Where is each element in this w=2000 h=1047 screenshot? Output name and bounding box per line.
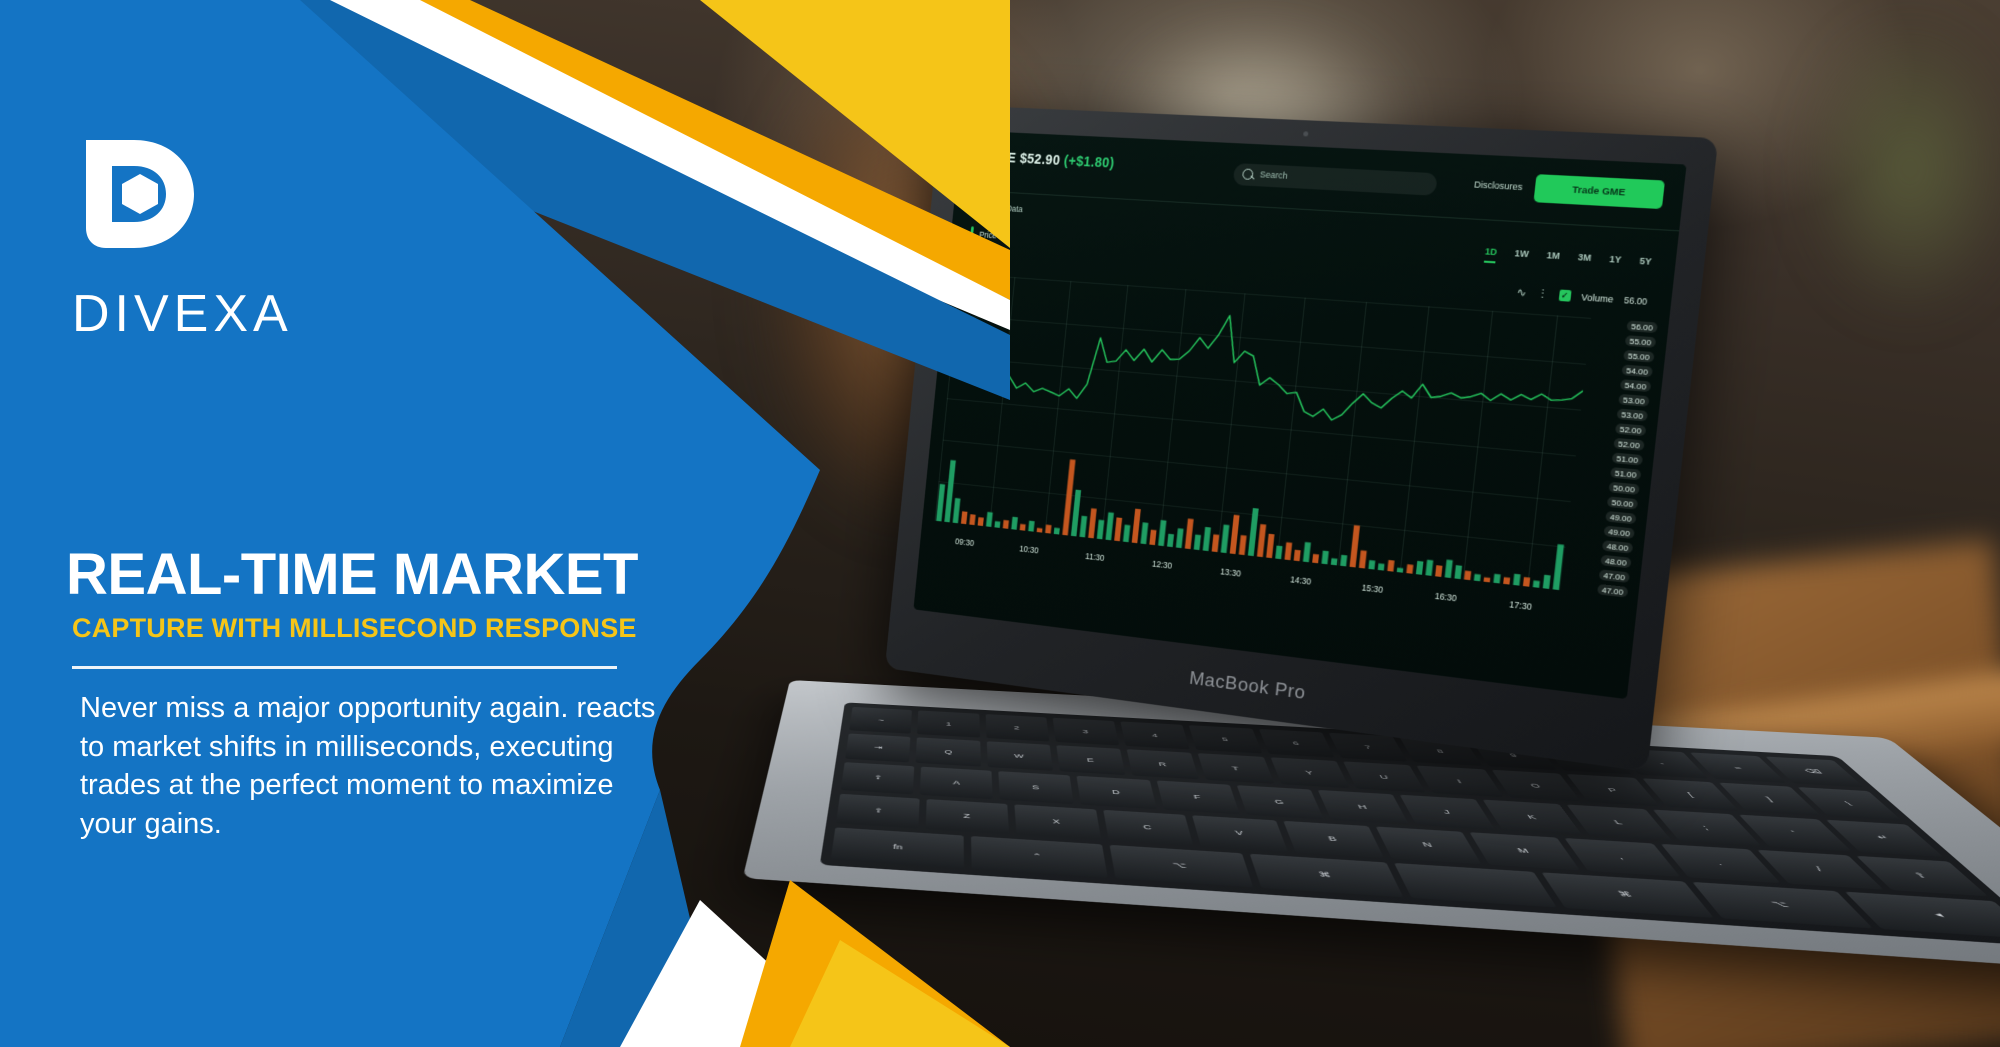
volume-bar — [1425, 560, 1433, 576]
volume-bar — [1185, 519, 1194, 550]
key: N — [1376, 826, 1481, 864]
key: ↵ — [1826, 820, 1943, 857]
y-axis-tick: 47.00 — [1597, 584, 1628, 598]
y-axis-tick: 52.00 — [1615, 423, 1646, 436]
key: E — [1056, 745, 1126, 775]
volume-bar — [1037, 528, 1043, 533]
key: ⌘ — [1541, 872, 1713, 918]
volume-bar — [1114, 517, 1122, 541]
volume-bar — [1079, 516, 1087, 538]
copy-block: REAL-TIME MARKET CAPTURE WITH MILLISECON… — [66, 545, 666, 843]
volume-bar — [1474, 574, 1481, 581]
line-chart-icon[interactable]: ∿ — [1516, 286, 1527, 300]
range-tab-1d[interactable]: 1D — [1484, 246, 1498, 263]
x-axis-tick: 10:30 — [1019, 544, 1039, 556]
body-copy: Never miss a major opportunity again. re… — [80, 689, 666, 843]
trading-app: ‹GME $52.90 (+$1.80) Search Disclosures … — [913, 130, 1686, 699]
subheadline: CAPTURE WITH MILLISECOND RESPONSE — [72, 613, 666, 644]
key: H — [1318, 790, 1409, 824]
vertical-dots-icon[interactable]: ⋮ — [1536, 287, 1549, 301]
key: ⌥ — [1691, 882, 1873, 929]
volume-checkbox-label: Volume — [1581, 291, 1614, 304]
volume-bar — [1045, 525, 1051, 534]
key: 6 — [1259, 729, 1335, 758]
volume-bar — [1416, 561, 1424, 575]
volume-bar — [1387, 560, 1394, 572]
y-axis-tick: 52.00 — [1613, 438, 1644, 451]
volume-bar — [1194, 534, 1201, 550]
key: ⌥ — [1109, 845, 1254, 888]
y-axis-tick: 49.00 — [1605, 511, 1636, 524]
time-range-tabs: 1D 1W 1M 3M 1Y 5Y — [1484, 246, 1652, 273]
volume-bar — [1248, 508, 1259, 556]
key: M — [1469, 832, 1579, 870]
volume-bar — [1321, 551, 1328, 565]
volume-bar — [1054, 528, 1060, 535]
volume-bar — [1543, 575, 1551, 589]
volume-bar — [1176, 528, 1184, 548]
search-icon-handle — [1250, 175, 1254, 179]
y-axis-tick: 55.00 — [1623, 350, 1655, 363]
key: V — [1192, 815, 1288, 852]
range-tab-1m[interactable]: 1M — [1545, 250, 1560, 267]
key: T — [1198, 753, 1274, 784]
price-line — [948, 295, 1588, 443]
volume-bar — [1123, 525, 1130, 543]
price-chart — [935, 273, 1591, 590]
volume-bar — [1484, 577, 1491, 582]
volume-bar — [1523, 577, 1530, 587]
y-axis-tick: 54.00 — [1620, 379, 1651, 392]
plant-blur — [1760, 0, 2000, 420]
x-axis-tick: 17:30 — [1509, 599, 1532, 612]
y-axis-tick: 48.00 — [1602, 540, 1633, 554]
volume-bar — [1088, 508, 1097, 538]
volume-bar — [1071, 490, 1081, 537]
key: G — [1237, 785, 1324, 819]
volume-bar — [1553, 544, 1564, 590]
volume-bar — [1020, 524, 1026, 531]
volume-bar — [1284, 542, 1292, 560]
divexa-d-hexagon-logo — [72, 132, 202, 257]
key: ⌘ — [1250, 854, 1403, 898]
volume-bar — [1294, 550, 1301, 562]
key: ⌫ — [1765, 757, 1864, 788]
volume-bar — [1212, 534, 1220, 552]
volume-bar — [1132, 509, 1141, 544]
x-axis-tick: 15:30 — [1361, 582, 1383, 594]
key: ◂ — [1845, 892, 2000, 940]
x-axis-tick: 12:30 — [1152, 559, 1173, 571]
y-axis-tick: 53.00 — [1617, 409, 1648, 422]
volume-bar — [1503, 577, 1510, 584]
brand-name: DIVEXA — [72, 288, 332, 340]
volume-checkbox[interactable]: ✓ — [1558, 289, 1571, 301]
key: C — [1103, 810, 1194, 846]
x-axis-tick: 14:30 — [1290, 574, 1312, 586]
volume-bar — [1230, 515, 1240, 554]
volume-bar — [1167, 534, 1174, 547]
y-axis-tick: 50.00 — [1608, 482, 1639, 495]
key: 5 — [1189, 725, 1262, 753]
volume-bar — [1349, 525, 1359, 567]
volume-bar — [1275, 546, 1282, 560]
y-axis-tick: 51.00 — [1610, 467, 1641, 480]
volume-bar — [1340, 555, 1347, 567]
key: Y — [1270, 757, 1349, 788]
range-tab-1w[interactable]: 1W — [1513, 248, 1529, 265]
volume-bar — [1105, 512, 1113, 540]
volume-bar — [1445, 560, 1453, 578]
key: R — [1127, 749, 1200, 779]
volume-bar — [1454, 565, 1462, 579]
volume-bar — [1331, 558, 1338, 565]
volume-bar — [1368, 560, 1375, 569]
key: \ — [1797, 787, 1902, 820]
volume-bar — [1312, 554, 1319, 563]
volume-bar — [1158, 520, 1166, 546]
brand-lockup: DIVEXA — [72, 132, 332, 340]
range-tab-5y[interactable]: 5Y — [1638, 256, 1652, 274]
y-axis-tick: 50.00 — [1607, 496, 1638, 509]
key: D — [1077, 776, 1156, 809]
key — [1394, 863, 1557, 908]
volume-bars — [936, 447, 1568, 590]
ticker-price: $52.90 — [1019, 150, 1061, 167]
webcam-icon — [1303, 131, 1308, 136]
headline: REAL-TIME MARKET — [66, 545, 666, 604]
marketing-banner: ~ 1 2 3 4 5 6 7 8 9 0 - = ⌫ ⇥ Q — [0, 0, 2000, 1047]
volume-bar — [1221, 525, 1230, 554]
key: X — [1014, 804, 1101, 840]
laptop-screen: ‹GME $52.90 (+$1.80) Search Disclosures … — [913, 130, 1686, 699]
x-axis-tick: 11:30 — [1085, 551, 1105, 563]
y-axis-tick: 54.00 — [1621, 365, 1653, 378]
y-axis-tick: 51.00 — [1612, 452, 1643, 465]
volume-bar — [1303, 542, 1311, 562]
volume-bar — [1397, 568, 1404, 573]
y-axis-tick: 47.00 — [1599, 569, 1630, 583]
key: ⇧ — [1856, 856, 1988, 897]
x-axis-tick: 16:30 — [1434, 591, 1457, 604]
key: U — [1343, 762, 1426, 793]
volume-bar — [1149, 530, 1156, 546]
chart-toolbar: ∿ ⋮ ✓ Volume 56.00 — [1516, 286, 1648, 308]
key: 3 — [1052, 718, 1119, 746]
key: J — [1400, 795, 1495, 830]
search-placeholder: Search — [1259, 169, 1288, 180]
volume-bar — [1097, 520, 1105, 540]
y-axis-tick: 53.00 — [1618, 394, 1649, 407]
volume-bar — [1513, 574, 1521, 586]
key: B — [1283, 821, 1384, 858]
last-price-tag: 56.00 — [1624, 294, 1648, 306]
range-tab-3m[interactable]: 3M — [1577, 252, 1592, 270]
x-axis-tick: 13:30 — [1220, 566, 1241, 578]
key: I — [1417, 766, 1503, 798]
volume-bar — [1011, 517, 1018, 530]
volume-bar — [1378, 563, 1385, 570]
volume-bar — [1533, 580, 1540, 587]
divider-rule — [72, 666, 617, 669]
y-axis-tick: 55.00 — [1625, 335, 1657, 348]
y-axis-tick: 56.00 — [1626, 320, 1658, 333]
volume-bar — [1257, 524, 1266, 557]
volume-bar — [1028, 521, 1035, 532]
y-axis-tick: 49.00 — [1604, 526, 1635, 540]
key: 4 — [1120, 721, 1190, 749]
volume-bar — [1435, 565, 1442, 577]
volume-bar — [1239, 535, 1247, 555]
ticker-change: (+$1.80) — [1063, 153, 1115, 171]
volume-bar — [1464, 571, 1471, 581]
volume-bar — [1359, 550, 1367, 568]
volume-bar — [1140, 522, 1148, 544]
chart-svg — [935, 273, 1591, 590]
y-axis-tick: 48.00 — [1600, 555, 1631, 569]
range-tab-1y[interactable]: 1Y — [1608, 254, 1622, 272]
volume-bar — [1406, 564, 1413, 574]
volume-bar — [1203, 527, 1211, 551]
volume-bar — [1493, 574, 1500, 584]
volume-bar — [1266, 534, 1274, 558]
key: F — [1156, 781, 1239, 814]
